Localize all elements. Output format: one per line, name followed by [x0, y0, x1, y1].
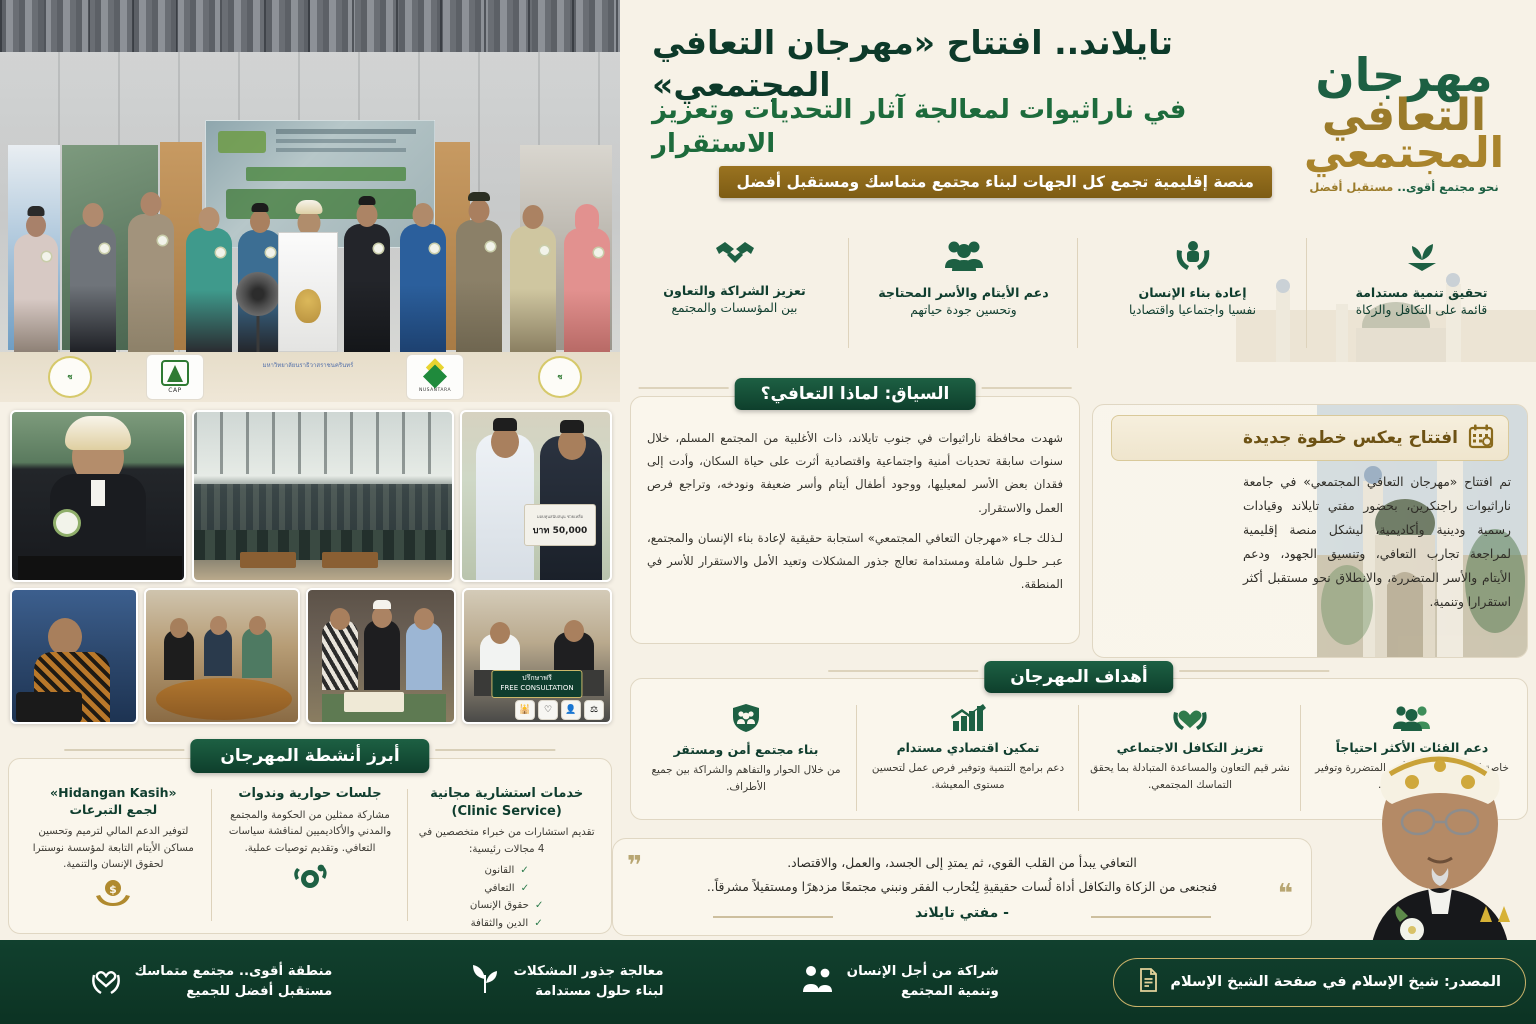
activity-title: جلسات حوارية وندوات: [222, 785, 399, 803]
head: [523, 205, 544, 229]
logo-line-3: المجتمعي: [1304, 132, 1504, 174]
pillar-title: دعم الأيتام والأسر المحتاجة: [857, 284, 1070, 302]
dignitary: [70, 224, 116, 352]
footer-text: شراكة من أجل الإنسان وتنمية المجتمع: [847, 962, 999, 1002]
seedling-icon: [1315, 238, 1528, 278]
pillars-row: تحقيق تنمية مستدامة قائمة على التكافل وا…: [620, 232, 1536, 362]
head: [250, 210, 270, 233]
head: [141, 192, 162, 216]
objective-body: دعم برامج التنمية وتوفير فرص عمل لتحسين …: [867, 760, 1069, 794]
roof-structure: [0, 0, 620, 52]
dignitary: [400, 224, 446, 352]
checklist-item: حقوق الإنسان: [418, 897, 595, 915]
photo-collage: มอบทุนสนับสนุน ช่วยเหลือ 50,000 บาท: [0, 404, 620, 734]
activity-item-dialogue: جلسات حوارية وندوات مشاركة ممثلين من الح…: [212, 785, 409, 925]
head: [413, 203, 434, 227]
photo-speaker-batik: [10, 588, 138, 724]
infographic-page: ซ CAP มหาวิทยาลัยนราธิวาสราชนครินทร์ NUS…: [0, 0, 1536, 1024]
handshake-icon: [628, 238, 841, 276]
hero-stage-photo: [0, 0, 620, 352]
pillar-rebuild-human: إعادة بناء الإنسان نفسيا واجتماعيا واقتص…: [1078, 232, 1307, 362]
source-badge[interactable]: المصدر: شيخ الإسلام في صفحة الشيخ الإسلا…: [1113, 958, 1526, 1007]
police-officer: [456, 220, 502, 352]
nusantara-mark-icon: [422, 361, 448, 387]
pillar-title: إعادة بناء الإنسان: [1086, 284, 1299, 302]
provincial-seal-left: ซ: [48, 356, 92, 398]
pillar-sustainable-development: تحقيق تنمية مستدامة قائمة على التكافل وا…: [1307, 232, 1536, 362]
mosque-icon: 🕌: [515, 700, 535, 720]
sponsor-logo-strip: ซ CAP มหาวิทยาลัยนราธิวาสราชนครินทร์ NUS…: [0, 352, 620, 402]
footer-line-1: منطقة أقوى.. مجتمع متماسك: [135, 964, 333, 979]
objective-safe-society: بناء مجتمع أمن ومستقر من خلال الحوار وال…: [635, 703, 857, 813]
objective-body: من خلال الحوار والتفاهم والشراكة بين جمي…: [645, 762, 847, 796]
group-people-icon: [857, 238, 1070, 278]
head: [357, 203, 378, 227]
objective-body: نشر قيم التعاون والمساعدة المتبادلة بما …: [1089, 760, 1291, 794]
leaf-icon: [469, 963, 501, 1001]
provincial-seal-right: ซ: [538, 356, 582, 398]
head: [199, 207, 220, 231]
consult-en: FREE CONSULTATION: [500, 684, 573, 692]
songkok: [252, 203, 269, 212]
activity-body: تقديم استشارات من خبراء متخصصين في 4 مجا…: [418, 825, 595, 859]
consult-th: ปรึกษาฟรี: [522, 674, 552, 682]
logo-tagline: نحو مجتمع أقوى.. مستقبل أفضل: [1309, 180, 1498, 194]
objectives-heading: أهداف المهرجان: [984, 661, 1173, 693]
seal-text: ซ: [68, 374, 73, 381]
footer-line-2: لبناء حلول مستدامة: [535, 984, 663, 999]
pillar-subtitle: وتحسين جودة حياتهم: [857, 302, 1070, 320]
tagline-green: نحو مجتمع أقوى..: [1397, 180, 1498, 194]
cap: [28, 206, 45, 216]
pillar-subtitle: بين المؤسسات والمجتمع: [628, 300, 841, 318]
objective-social-solidarity: تعزيز التكافل الاجتماعي نشر قيم التعاون …: [1079, 703, 1301, 813]
svg-text:$: $: [109, 883, 117, 896]
photo-free-consultation: ปรึกษาฟรี FREE CONSULTATION ⚖ 👤 ♡ 🕌: [462, 588, 612, 724]
head: [83, 203, 104, 227]
growth-chart-icon: [867, 703, 1069, 736]
activity-body: لتوفير الدعم المالي لترميم وتحسين مساكن …: [25, 824, 202, 874]
cap-logo: CAP: [146, 354, 204, 400]
context-heading: السياق: لماذا التعافي؟: [735, 378, 976, 410]
activities-heading: أبرز أنشطة المهرجان: [190, 739, 429, 773]
footer-item-root-causes: معالجة جذور المشكلات لبناء حلول مستدامة: [469, 962, 663, 1002]
photo-meeting-table: [144, 588, 300, 724]
head: [469, 199, 490, 223]
checklist-item: الدين والثقافة: [418, 915, 595, 933]
cap-label: CAP: [168, 387, 181, 394]
nusantara-label: NUSANTARA: [419, 388, 451, 393]
event-backdrop: [205, 120, 435, 248]
page-subtitle: في ناراثيوات لمعالجة آثار التحديات وتعزي…: [652, 94, 1272, 162]
dignitary: [510, 226, 556, 352]
objective-title: تعزيز التكافل الاجتماعي: [1089, 740, 1291, 756]
footer-item-partnership: شراكة من أجل الإنسان وتنمية المجتمع: [801, 962, 999, 1002]
photo-cheque-handover: มอบทุนสนับสนุน ช่วยเหลือ 50,000 บาท: [460, 410, 612, 582]
dignitary-officer: [128, 214, 174, 352]
songkok: [359, 196, 376, 205]
quote-card: ❝ ❞ التعافي يبدأ من القلب القوي، ثم يمتد…: [612, 838, 1312, 936]
footer-text: منطقة أقوى.. مجتمع متماسك مستقبل أفضل لل…: [135, 962, 333, 1002]
pillar-title: تعزيز الشراكة والتعاون: [628, 282, 841, 300]
nusantara-logo: NUSANTARA: [406, 354, 464, 400]
hands-person-icon: [1086, 238, 1299, 278]
footer-line-1: معالجة جذور المشكلات: [513, 964, 663, 979]
activity-title: خدمات استشارية مجانية: [418, 785, 595, 803]
quote-mark-open-icon: ❝: [1278, 881, 1293, 907]
dignitary: [186, 228, 232, 352]
footer-line-2: مستقبل أفضل للجميع: [186, 984, 332, 999]
activity-item-hidangan-kasih: «Hidangan Kasih» لجمع التبرعات لتوفير ال…: [15, 785, 212, 925]
header-block: تايلاند.. افتتاح «مهرجان التعافي المجتمع…: [620, 0, 1536, 230]
new-step-body: تم افتتاح «مهرجان التعافي المجتمعي» في ج…: [1243, 471, 1511, 615]
pillar-partnership: تعزيز الشراكة والتعاون بين المؤسسات والم…: [620, 232, 849, 362]
header-banner: منصة إقليمية تجمع كل الجهات لبناء مجتمع …: [719, 166, 1272, 198]
photo-mufti-speaking: [10, 410, 186, 582]
hands-money-icon: $: [25, 878, 202, 913]
pillar-subtitle: قائمة على التكافل والزكاة: [1315, 302, 1528, 320]
context-paragraph-1: شهدت محافظة ناراثيوات في جنوب تايلاند، ذ…: [647, 427, 1063, 520]
footer-line-2: وتنمية المجتمع: [901, 984, 999, 999]
scales-icon: ⚖: [584, 700, 604, 720]
festival-logo: مهرجان التعافي المجتمعي نحو مجتمع أقوى..…: [1278, 18, 1530, 230]
tagline-gold: مستقبل أفضل: [1309, 180, 1393, 194]
dialogue-icon: [222, 862, 399, 897]
partnership-icon: [801, 964, 835, 1000]
pillar-title: تحقيق تنمية مستدامة: [1315, 284, 1528, 302]
free-consultation-sign: ปรึกษาฟรี FREE CONSULTATION: [491, 670, 582, 698]
person-icon: 👤: [561, 700, 581, 720]
context-paragraph-2: لـذلك جـاء «مهرجان التعافي المجتمعي» است…: [647, 527, 1063, 597]
footer-bar: المصدر: شيخ الإسلام في صفحة الشيخ الإسلا…: [0, 940, 1536, 1024]
activity-subtitle: (Clinic Service): [418, 803, 595, 821]
objective-title: تمكين اقتصادي مستدام: [867, 740, 1069, 756]
cap-mark-icon: [161, 360, 189, 386]
objective-title: بناء مجتمع أمن ومستقر: [645, 742, 847, 758]
quote-mark-close-icon: ❞: [627, 853, 642, 879]
pillar-support-orphans: دعم الأيتام والأسر المحتاجة وتحسين جودة …: [849, 232, 1078, 362]
head-hijab: [575, 204, 599, 232]
footer-item-stronger-region: منطقة أقوى.. مجتمع متماسك مستقبل أفضل لل…: [89, 962, 333, 1002]
seal-text: ซ: [558, 374, 563, 381]
service-icons: ⚖ 👤 ♡ 🕌: [515, 700, 604, 720]
context-card: السياق: لماذا التعافي؟ شهدت محافظة ناراث…: [630, 396, 1080, 644]
source-text: المصدر: شيخ الإسلام في صفحة الشيخ الإسلا…: [1170, 974, 1501, 990]
hand-heart-icon: [89, 963, 123, 1001]
photo-signing-ceremony: [306, 588, 456, 724]
new-step-card: افتتاح يعكس خطوة جديدة تم افتتاح «مهرجان…: [1092, 404, 1528, 658]
dignitary: [344, 224, 390, 352]
cheque-card: มอบทุนสนับสนุน ช่วยเหลือ 50,000 บาท: [524, 504, 596, 546]
photo-audience-hall: [192, 410, 454, 582]
activity-subtitle: لجمع التبرعات: [25, 802, 202, 819]
quote-attribution: - مفتي تايلاند: [651, 905, 1273, 921]
heart-icon: ♡: [538, 700, 558, 720]
activities-panel: أبرز أنشطة المهرجان خدمات استشارية مجاني…: [8, 758, 612, 934]
podium: [278, 232, 338, 352]
shield-people-icon: [645, 703, 847, 738]
quote-line-1: التعافي يبدأ من القلب القوي، ثم يمتدِ إل…: [651, 851, 1273, 875]
mufti-portrait: [1340, 716, 1536, 956]
footer-line-1: شراكة من أجل الإنسان: [847, 964, 999, 979]
cheque-amount: 50,000 บาท: [533, 523, 588, 537]
checklist-item: التعافي: [418, 880, 595, 898]
document-icon: [1138, 968, 1158, 997]
new-step-heading: افتتاح يعكس خطوة جديدة: [1243, 428, 1458, 448]
hand-heart-icon: [1089, 703, 1291, 736]
footer-text: معالجة جذور المشكلات لبناء حلول مستدامة: [513, 962, 663, 1002]
calendar-icon: [1468, 423, 1494, 453]
female-dignitary: [564, 228, 610, 352]
quote-line-2: فنجنعى من الزكاة والتكافل أداة لُسات حقي…: [651, 875, 1273, 899]
activity-body: مشاركة ممثلين من الحكومة والمجتمع والمدن…: [222, 808, 399, 858]
new-step-heading-bar: افتتاح يعكس خطوة جديدة: [1111, 415, 1509, 461]
objective-economic-empowerment: تمكين اقتصادي مستدام دعم برامج التنمية و…: [857, 703, 1079, 813]
peaked-cap: [468, 192, 490, 201]
checklist-item: القانون: [418, 862, 595, 880]
pillar-subtitle: نفسيا واجتماعيا واقتصاديا: [1086, 302, 1299, 320]
thai-caption: มหาวิทยาลัยนราธิวาสราชนครินทร์: [228, 362, 388, 371]
activity-item-clinic: خدمات استشارية مجانية (Clinic Service) ت…: [408, 785, 605, 925]
dignitary: [14, 234, 58, 352]
head: [26, 214, 46, 237]
activity-title: «Hidangan Kasih»: [25, 785, 202, 802]
turban: [296, 200, 323, 214]
floor-fan: [236, 272, 280, 316]
cheque-note: มอบทุนสนับสนุน ช่วยเหลือ: [537, 513, 583, 520]
activity-checklist: القانون التعافي حقوق الإنسان الدين والثق…: [418, 862, 595, 933]
